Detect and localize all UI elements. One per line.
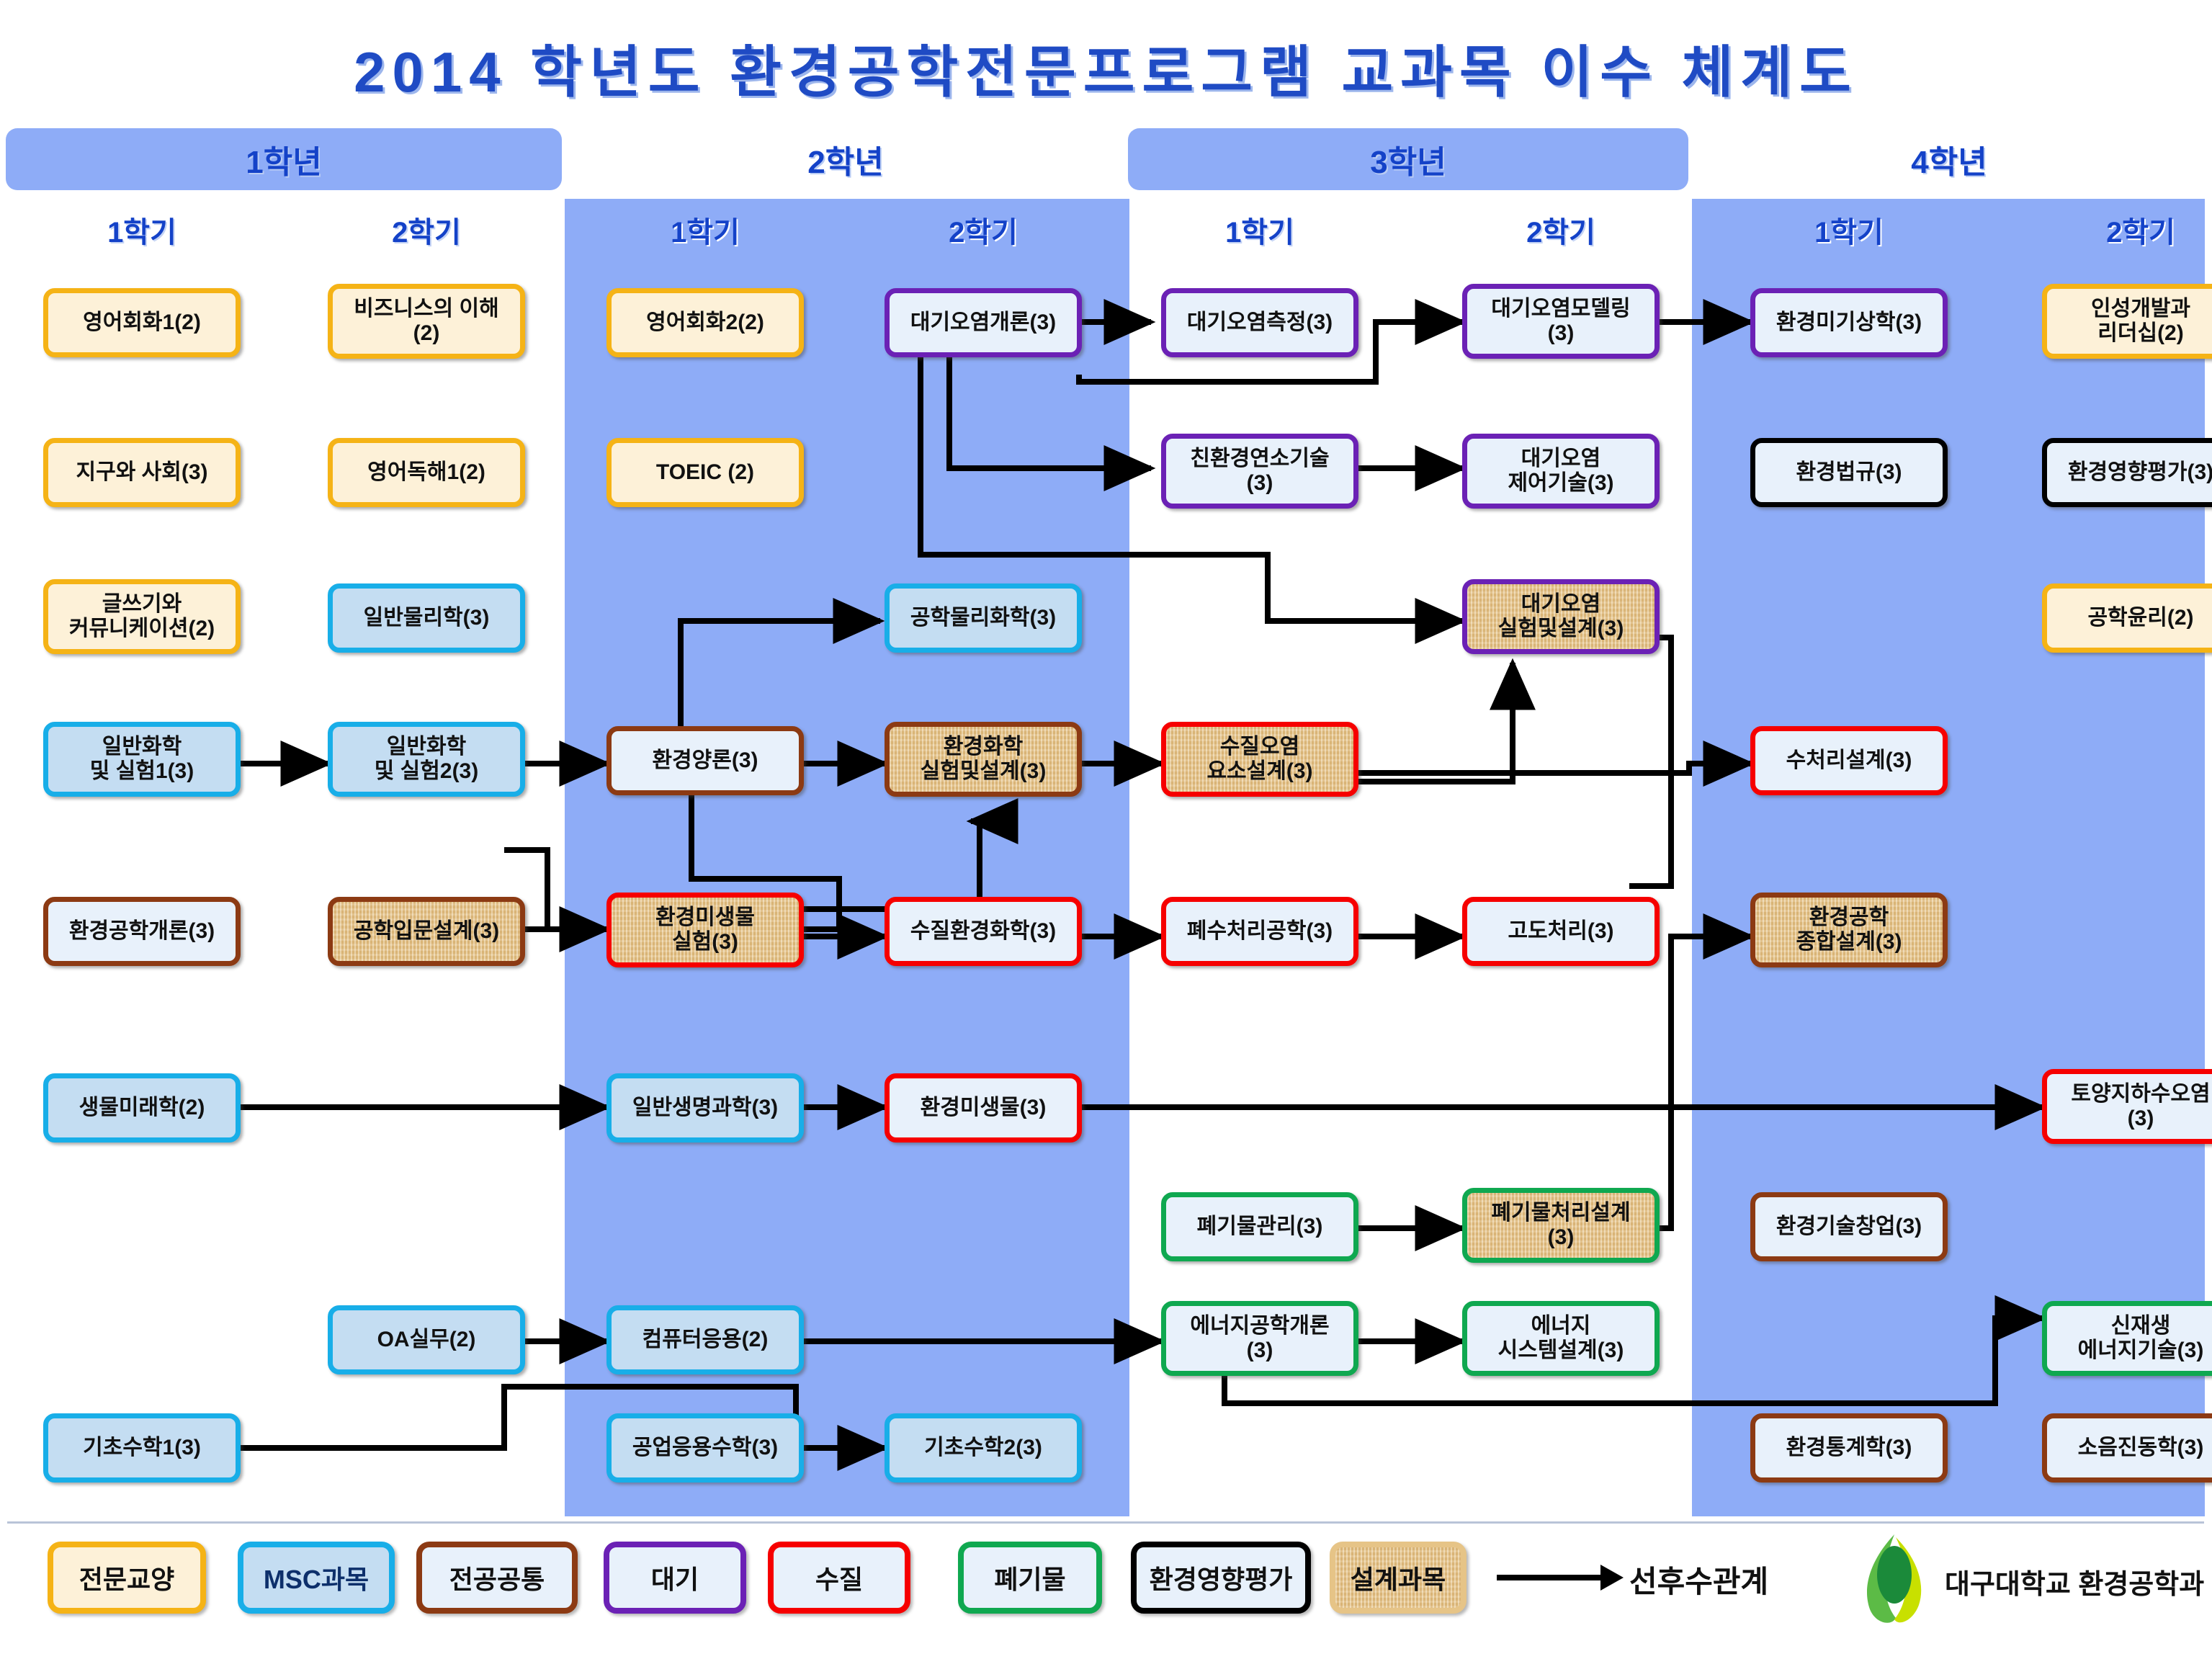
course-box[interactable]: 글쓰기와 커뮤니케이션(2) xyxy=(43,579,241,654)
course-box[interactable]: 폐수처리공학(3) xyxy=(1161,897,1358,966)
course-box[interactable]: 환경법규(3) xyxy=(1750,438,1948,507)
course-box[interactable]: 대기오염모델링 (3) xyxy=(1462,284,1660,359)
course-box[interactable]: 에너지공학개론 (3) xyxy=(1161,1301,1358,1376)
year-header-3: 3학년 xyxy=(1128,128,1688,190)
legend-chip: 폐기물 xyxy=(958,1542,1102,1614)
course-box[interactable]: 공학물리화학(3) xyxy=(885,583,1082,653)
course-box[interactable]: 비즈니스의 이해 (2) xyxy=(328,284,525,359)
course-box[interactable]: 고도처리(3) xyxy=(1462,897,1660,966)
course-box[interactable]: 토양지하수오염 (3) xyxy=(2042,1069,2212,1144)
course-box[interactable]: 친환경연소기술 (3) xyxy=(1161,434,1358,509)
course-box[interactable]: 대기오염 제어기술(3) xyxy=(1462,434,1660,509)
course-box[interactable]: 환경양론(3) xyxy=(606,726,804,795)
course-box[interactable]: 공학윤리(2) xyxy=(2042,583,2212,653)
course-box[interactable]: 에너지 시스템설계(3) xyxy=(1462,1301,1660,1376)
year-header-4: 4학년 xyxy=(1694,128,2204,190)
course-box[interactable]: 환경통계학(3) xyxy=(1750,1413,1948,1483)
course-box[interactable]: 환경미생물(3) xyxy=(885,1073,1082,1142)
relation-arrow-head-icon xyxy=(1600,1565,1624,1591)
semester-header-6: 2학기 xyxy=(1462,207,1660,252)
course-box[interactable]: 수질환경화학(3) xyxy=(885,897,1082,966)
course-box[interactable]: 환경영향평가(3) xyxy=(2042,438,2212,507)
course-box[interactable]: 일반생명과학(3) xyxy=(606,1073,804,1142)
year-header-1: 1학년 xyxy=(6,128,562,190)
semester-header-3: 1학기 xyxy=(606,207,804,252)
course-box[interactable]: 영어회화2(2) xyxy=(606,288,804,357)
year-header-2: 2학년 xyxy=(568,128,1124,190)
semester-header-5: 1학기 xyxy=(1161,207,1358,252)
legend-chip: 환경영향평가 xyxy=(1131,1542,1311,1614)
relation-arrow-line xyxy=(1497,1575,1605,1580)
course-box[interactable]: 환경미기상학(3) xyxy=(1750,288,1948,357)
course-box[interactable]: OA실무(2) xyxy=(328,1305,525,1374)
university-logo-icon xyxy=(1851,1533,1938,1627)
legend-chip: 대기 xyxy=(604,1542,746,1614)
legend-chip: 전공공통 xyxy=(416,1542,578,1614)
legend-chip: 수질 xyxy=(768,1542,910,1614)
course-box[interactable]: TOEIC (2) xyxy=(606,438,804,507)
course-box[interactable]: 환경화학 실험및설계(3) xyxy=(885,722,1082,797)
course-box[interactable]: 일반화학 및 실험2(3) xyxy=(328,722,525,797)
semester-header-8: 2학기 xyxy=(2042,207,2212,252)
course-box[interactable]: 신재생 에너지기술(3) xyxy=(2042,1301,2212,1376)
page-title: 2014 학년도 환경공학전문프로그램 교과목 이수 체계도 xyxy=(0,27,2212,108)
semester-header-4: 2학기 xyxy=(885,207,1082,252)
course-box[interactable]: 환경공학 종합설계(3) xyxy=(1750,893,1948,967)
course-box[interactable]: 지구와 사회(3) xyxy=(43,438,241,507)
department-name: 대구대학교 환경공학과 xyxy=(1945,1562,2204,1601)
course-box[interactable]: 일반물리학(3) xyxy=(328,583,525,653)
course-box[interactable]: 인성개발과 리더십(2) xyxy=(2042,284,2212,359)
course-box[interactable]: 환경기술창업(3) xyxy=(1750,1192,1948,1261)
semester-header-2: 2학기 xyxy=(328,207,525,252)
legend-chip: MSC과목 xyxy=(238,1542,395,1614)
legend-chip: 전문교양 xyxy=(48,1542,206,1614)
course-box[interactable]: 기초수학2(3) xyxy=(885,1413,1082,1483)
course-box[interactable]: 대기오염 실험및설계(3) xyxy=(1462,579,1660,654)
course-box[interactable]: 수처리설계(3) xyxy=(1750,726,1948,795)
course-box[interactable]: 소음진동학(3) xyxy=(2042,1413,2212,1483)
course-box[interactable]: 컴퓨터응용(2) xyxy=(606,1305,804,1374)
course-box[interactable]: 수질오염 요소설계(3) xyxy=(1161,722,1358,797)
course-box[interactable]: 공업응용수학(3) xyxy=(606,1413,804,1483)
semester-header-7: 1학기 xyxy=(1750,207,1948,252)
course-box[interactable]: 영어독해1(2) xyxy=(328,438,525,507)
course-box[interactable]: 일반화학 및 실험1(3) xyxy=(43,722,241,797)
course-box[interactable]: 공학입문설계(3) xyxy=(328,897,525,966)
legend-chip: 설계과목 xyxy=(1330,1542,1467,1614)
course-box[interactable]: 폐기물관리(3) xyxy=(1161,1192,1358,1261)
course-box[interactable]: 환경공학개론(3) xyxy=(43,897,241,966)
course-box[interactable]: 영어회화1(2) xyxy=(43,288,241,357)
course-box[interactable]: 기초수학1(3) xyxy=(43,1413,241,1483)
course-box[interactable]: 생물미래학(2) xyxy=(43,1073,241,1142)
legend-divider xyxy=(7,1521,2204,1524)
semester-header-1: 1학기 xyxy=(43,207,241,252)
course-box[interactable]: 대기오염개론(3) xyxy=(885,288,1082,357)
course-box[interactable]: 폐기물처리설계 (3) xyxy=(1462,1188,1660,1263)
course-box[interactable]: 환경미생물 실험(3) xyxy=(606,893,804,967)
relation-label: 선후수관계 xyxy=(1629,1557,1768,1601)
course-box[interactable]: 대기오염측정(3) xyxy=(1161,288,1358,357)
